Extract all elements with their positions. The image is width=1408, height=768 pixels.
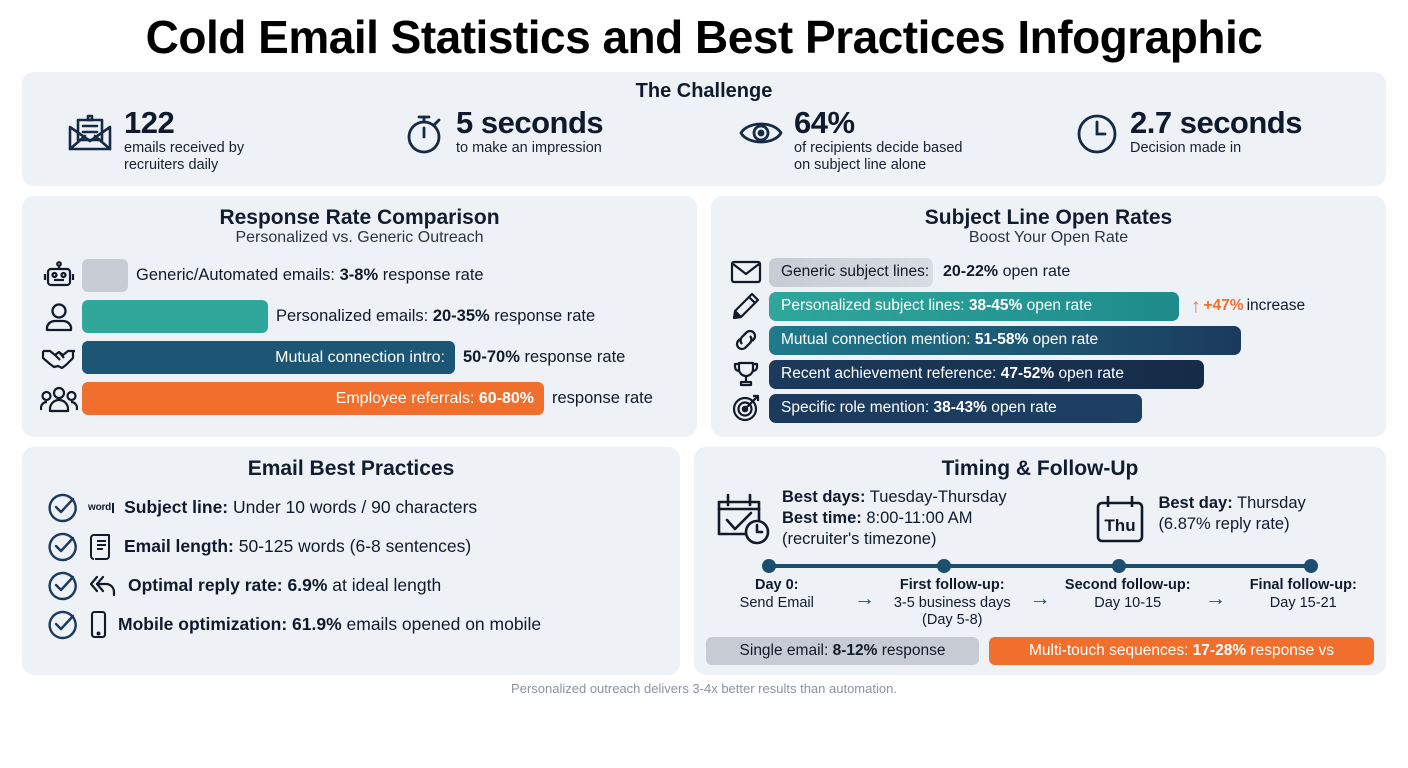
response-bar-label: Mutual connection intro: — [275, 349, 445, 367]
challenge-stat-subject: 64% of recipients decide basedon subject… — [704, 107, 1040, 174]
link-icon — [723, 325, 769, 355]
timeline-step: Day 0: Send Email — [706, 577, 848, 629]
page-title: Cold Email Statistics and Best Practices… — [22, 0, 1386, 72]
response-bar — [82, 259, 128, 292]
response-outside-label: response rate — [544, 389, 653, 408]
timing-best-time: Best time: 8:00-11:00 AM — [782, 508, 1007, 529]
calendar-clock-icon — [714, 489, 772, 549]
best-practice-subject-line: word Subject line: Under 10 words / 90 c… — [22, 488, 680, 527]
followup-timeline — [712, 559, 1368, 575]
response-row-mutual: Mutual connection intro: 50-70% response… — [22, 337, 697, 378]
timing-best-day-note: (6.87% reply rate) — [1158, 514, 1305, 535]
scroll-icon — [88, 532, 114, 562]
best-practice-text: Subject line: Under 10 words / 90 charac… — [124, 497, 477, 518]
timeline-arrow-icon: → — [1023, 577, 1057, 629]
timing-best-days: Best days: Tuesday-Thursday — [782, 487, 1007, 508]
best-practices-title: Email Best Practices — [22, 457, 680, 481]
timeline-arrow-icon: → — [848, 577, 882, 629]
svg-text:Thu: Thu — [1105, 516, 1136, 535]
clock-icon — [1074, 111, 1120, 157]
subject-row-generic: Generic subject lines: 20-22% open rate — [711, 255, 1386, 289]
challenge-stat-decision: 2.7 seconds Decision made in — [1040, 107, 1376, 157]
open-envelope-icon — [66, 111, 114, 157]
best-practice-text: Mobile optimization: 61.9% emails opened… — [118, 614, 541, 635]
timeline-track — [768, 564, 1312, 568]
timing-title: Timing & Follow-Up — [706, 457, 1374, 481]
challenge-desc: to make an impression — [456, 140, 603, 157]
best-practice-text: Email length: 50-125 words (6-8 sentence… — [124, 536, 471, 557]
best-practices-panel: Email Best Practices word Subject line: … — [22, 447, 680, 675]
response-outside-label: Generic/Automated emails: 3-8% response … — [128, 266, 484, 285]
timeline-arrow-icon: → — [1199, 577, 1233, 629]
calendar-thu-icon: Thu — [1093, 493, 1149, 545]
subject-row-personalized: Personalized subject lines: 38-45% open … — [711, 289, 1386, 323]
subject-line-panel: Subject Line Open Rates Boost Your Open … — [711, 196, 1386, 437]
response-panel-subtitle: Personalized vs. Generic Outreach — [22, 229, 697, 247]
challenge-stat-emails: 122 emails received byrecruiters daily — [32, 107, 368, 174]
subject-outside-label: 20-22% open rate — [933, 263, 1070, 281]
subject-bar-label: Personalized subject lines: 38-45% open … — [781, 297, 1092, 315]
timeline-step-title: First follow-up: — [900, 577, 1005, 593]
increase-pct: +47% — [1204, 297, 1244, 315]
challenge-row: 122 emails received byrecruiters daily 5… — [32, 107, 1376, 174]
timeline-step-sub: 3-5 business days — [894, 595, 1011, 611]
timing-best-day-block: Thu Best day: Thursday (6.87% reply rate… — [1093, 487, 1305, 549]
response-bar: Mutual connection intro: — [82, 341, 455, 374]
timeline-step: Second follow-up: Day 10-15 — [1057, 577, 1199, 629]
check-circle-icon — [48, 610, 78, 640]
response-outside-label: 50-70% response rate — [455, 348, 625, 367]
timeline-step-sub: Day 15-21 — [1270, 595, 1337, 611]
challenge-value: 122 — [124, 107, 244, 140]
people-icon — [36, 384, 82, 414]
subject-bar: Recent achievement reference: 47-52% ope… — [769, 360, 1204, 389]
challenge-desc: Decision made in — [1130, 140, 1302, 157]
response-row-generic: Generic/Automated emails: 3-8% response … — [22, 255, 697, 296]
challenge-value: 5 seconds — [456, 107, 603, 140]
timing-best-days-block: Best days: Tuesday-Thursday Best time: 8… — [706, 487, 1093, 549]
word-cursor-icon: word — [88, 503, 114, 513]
subject-bar: Mutual connection mention: 51-58% open r… — [769, 326, 1241, 355]
footer-note: Personalized outreach delivers 3-4x bett… — [22, 675, 1386, 696]
response-rate-panel: Response Rate Comparison Personalized vs… — [22, 196, 697, 437]
challenge-value: 2.7 seconds — [1130, 107, 1302, 140]
timeline-step: First follow-up: 3-5 business days (Day … — [882, 577, 1024, 629]
pencil-icon — [723, 291, 769, 321]
robot-icon — [36, 259, 82, 293]
response-bar — [82, 300, 268, 333]
subject-bar-label: Mutual connection mention: 51-58% open r… — [781, 331, 1098, 349]
timeline-step-sub2: (Day 5-8) — [922, 612, 982, 628]
subject-bar: Specific role mention: 38-43% open rate — [769, 394, 1142, 423]
response-bar-label: Employee referrals: 60-80% — [336, 390, 534, 408]
challenge-desc: emails received byrecruiters daily — [124, 140, 244, 175]
timeline-step-sub: Send Email — [740, 595, 814, 611]
subject-row-mutual: Mutual connection mention: 51-58% open r… — [711, 323, 1386, 357]
subject-bar-label: Recent achievement reference: 47-52% ope… — [781, 365, 1124, 383]
timeline-dot — [1304, 559, 1318, 573]
response-bar: Employee referrals: 60-80% — [82, 382, 544, 415]
timeline-dot — [1112, 559, 1126, 573]
pill-text: Multi-touch sequences: 17-28% response v… — [1029, 642, 1334, 660]
subject-panel-subtitle: Boost Your Open Rate — [711, 229, 1386, 247]
timeline-step-title: Day 0: — [755, 577, 799, 593]
response-panel-title: Response Rate Comparison — [22, 206, 697, 230]
check-circle-icon — [48, 571, 78, 601]
increase-badge: ↑ +47% increase — [1179, 297, 1305, 316]
timeline-step-sub: Day 10-15 — [1094, 595, 1161, 611]
eye-icon — [738, 111, 784, 155]
bottom-row: Email Best Practices word Subject line: … — [22, 447, 1386, 675]
infographic-page: Cold Email Statistics and Best Practices… — [0, 0, 1408, 768]
timeline-step: Final follow-up: Day 15-21 — [1233, 577, 1375, 629]
response-outside-label: Personalized emails: 20-35% response rat… — [268, 307, 595, 326]
subject-bar: Generic subject lines: — [769, 258, 933, 287]
increase-word: increase — [1247, 297, 1306, 315]
response-row-referrals: Employee referrals: 60-80% response rate — [22, 378, 697, 419]
challenge-stat-impression: 5 seconds to make an impression — [368, 107, 704, 157]
mobile-icon — [88, 610, 108, 640]
best-practice-reply-rate: Optimal reply rate: 6.9% at ideal length — [22, 566, 680, 605]
subject-row-role: Specific role mention: 38-43% open rate — [711, 391, 1386, 425]
handshake-icon — [36, 343, 82, 373]
timing-pills: Single email: 8-12% response Multi-touch… — [706, 637, 1374, 665]
subject-bars: Generic subject lines: 20-22% open rate … — [711, 255, 1386, 425]
subject-panel-title: Subject Line Open Rates — [711, 206, 1386, 230]
best-practice-email-length: Email length: 50-125 words (6-8 sentence… — [22, 527, 680, 566]
target-icon — [723, 393, 769, 423]
pill-single-email: Single email: 8-12% response — [706, 637, 979, 665]
best-practices-list: word Subject line: Under 10 words / 90 c… — [22, 488, 680, 644]
pill-multi-touch: Multi-touch sequences: 17-28% response v… — [989, 637, 1374, 665]
check-circle-icon — [48, 493, 78, 523]
response-bars: Generic/Automated emails: 3-8% response … — [22, 255, 697, 419]
person-icon — [36, 300, 82, 334]
timing-top-row: Best days: Tuesday-Thursday Best time: 8… — [706, 487, 1374, 549]
timeline-dot — [937, 559, 951, 573]
challenge-title: The Challenge — [32, 80, 1376, 103]
timeline-step-title: Final follow-up: — [1250, 577, 1357, 593]
stopwatch-icon — [402, 111, 446, 157]
challenge-panel: The Challenge 122 emails received byrecr… — [22, 72, 1386, 186]
timeline-dot — [762, 559, 776, 573]
timing-best-day: Best day: Thursday — [1158, 493, 1305, 514]
up-arrow-icon: ↑ — [1191, 297, 1201, 316]
subject-bar-label: Specific role mention: 38-43% open rate — [781, 399, 1057, 417]
middle-row: Response Rate Comparison Personalized vs… — [22, 196, 1386, 437]
pill-text: Single email: 8-12% response — [740, 642, 946, 660]
response-row-personalized: Personalized emails: 20-35% response rat… — [22, 296, 697, 337]
subject-bar-label: Generic subject lines: — [781, 263, 929, 281]
check-circle-icon — [48, 532, 78, 562]
best-practice-text: Optimal reply rate: 6.9% at ideal length — [128, 575, 441, 596]
timeline-labels: Day 0: Send Email → First follow-up: 3-5… — [706, 577, 1374, 629]
timing-panel: Timing & Follow-Up — [694, 447, 1386, 675]
subject-bar: Personalized subject lines: 38-45% open … — [769, 292, 1179, 321]
challenge-desc: of recipients decide basedon subject lin… — [794, 140, 962, 175]
timing-best-time-note: (recruiter's timezone) — [782, 529, 1007, 550]
reply-all-icon — [88, 573, 118, 599]
best-practice-mobile: Mobile optimization: 61.9% emails opened… — [22, 605, 680, 644]
challenge-value: 64% — [794, 107, 962, 140]
timeline-step-title: Second follow-up: — [1065, 577, 1191, 593]
trophy-icon — [723, 359, 769, 389]
subject-row-achievement: Recent achievement reference: 47-52% ope… — [711, 357, 1386, 391]
envelope-icon — [723, 259, 769, 285]
